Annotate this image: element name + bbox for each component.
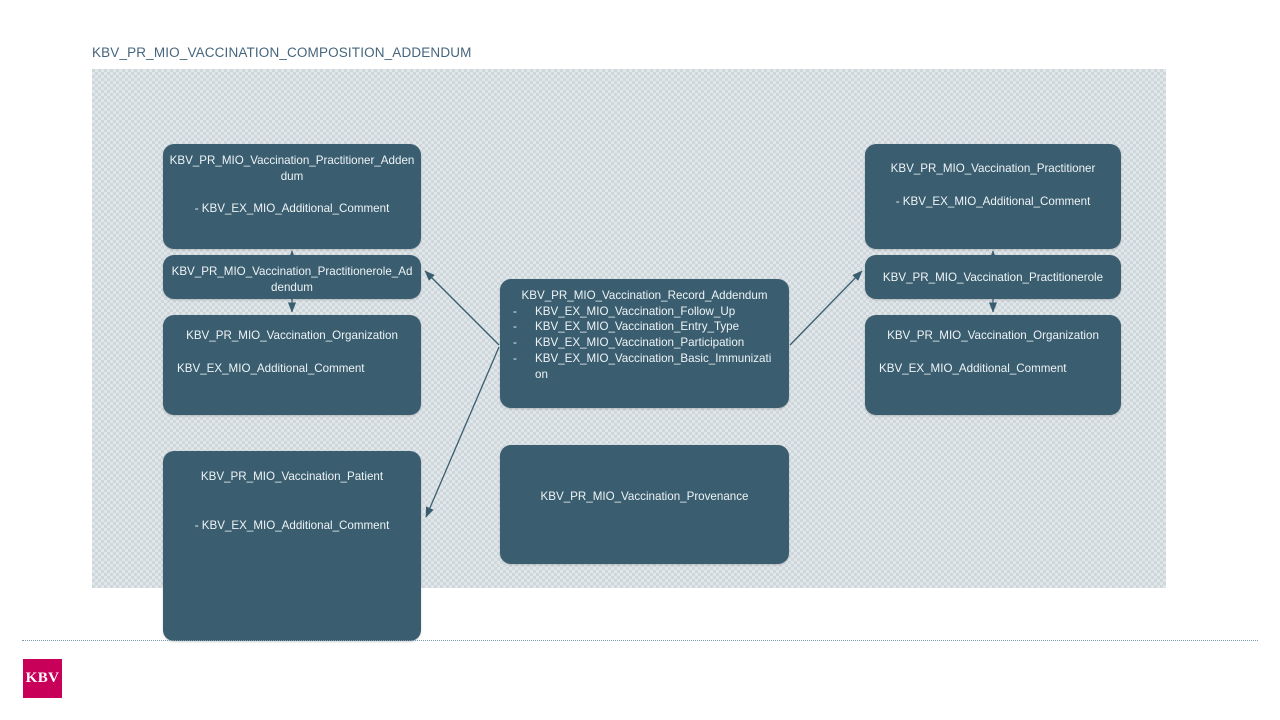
node-practitioner-addendum-title: KBV_PR_MIO_Vaccination_Practitioner_Adde…	[163, 153, 421, 184]
node-practitioner-right-item: - KBV_EX_MIO_Additional_Comment	[865, 194, 1121, 210]
node-organization-left-title: KBV_PR_MIO_Vaccination_Organization	[163, 328, 421, 344]
kbv-logo-text: KBV	[26, 670, 60, 687]
list-item-label: KBV_EX_MIO_Vaccination_Follow_Up	[535, 304, 749, 320]
node-practitionerole-right-title: KBV_PR_MIO_Vaccination_Practitionerole	[865, 270, 1121, 286]
connector-record-to-patient	[426, 347, 499, 517]
footer-divider	[22, 640, 1258, 641]
node-patient-item: - KBV_EX_MIO_Additional_Comment	[163, 518, 421, 534]
node-practitionerole-right[interactable]: KBV_PR_MIO_Vaccination_Practitionerole	[865, 255, 1121, 299]
list-bullet: -	[513, 335, 535, 351]
node-organization-left[interactable]: KBV_PR_MIO_Vaccination_Organization KBV_…	[163, 315, 421, 415]
list-bullet: -	[513, 319, 535, 335]
list-item-label: KBV_EX_MIO_Vaccination_Entry_Type	[535, 319, 753, 335]
list-item-label: KBV_EX_MIO_Vaccination_Participation	[535, 335, 758, 351]
node-provenance-title: KBV_PR_MIO_Vaccination_Provenance	[500, 489, 789, 505]
node-organization-right[interactable]: KBV_PR_MIO_Vaccination_Organization KBV_…	[865, 315, 1121, 415]
node-patient-title: KBV_PR_MIO_Vaccination_Patient	[163, 469, 421, 485]
node-practitioner-addendum[interactable]: KBV_PR_MIO_Vaccination_Practitioner_Adde…	[163, 144, 421, 249]
node-organization-right-title: KBV_PR_MIO_Vaccination_Organization	[865, 328, 1121, 344]
connector-record-to-practitionerole-right	[790, 271, 862, 345]
node-patient[interactable]: KBV_PR_MIO_Vaccination_Patient - KBV_EX_…	[163, 451, 421, 641]
record-addendum-extension-item: -KBV_EX_MIO_Vaccination_Basic_Immunizati…	[500, 351, 789, 383]
record-addendum-extension-item: -KBV_EX_MIO_Vaccination_Entry_Type	[500, 319, 789, 335]
record-addendum-extension-item: -KBV_EX_MIO_Vaccination_Participation	[500, 335, 789, 351]
connector-record-to-prole-addendum	[425, 271, 499, 345]
node-record-addendum-title: KBV_PR_MIO_Vaccination_Record_Addendum	[500, 288, 789, 304]
node-provenance[interactable]: KBV_PR_MIO_Vaccination_Provenance	[500, 445, 789, 564]
node-practitioner-right[interactable]: KBV_PR_MIO_Vaccination_Practitioner - KB…	[865, 144, 1121, 249]
record-addendum-extension-item: -KBV_EX_MIO_Vaccination_Follow_Up	[500, 304, 789, 320]
node-practitionerole-addendum[interactable]: KBV_PR_MIO_Vaccination_Practitionerole_A…	[163, 255, 421, 299]
page-title: KBV_PR_MIO_VACCINATION_COMPOSITION_ADDEN…	[92, 45, 472, 60]
list-bullet: -	[513, 351, 535, 383]
node-practitioner-right-title: KBV_PR_MIO_Vaccination_Practitioner	[865, 161, 1121, 177]
node-record-addendum[interactable]: KBV_PR_MIO_Vaccination_Record_Addendum -…	[500, 279, 789, 408]
node-organization-right-item: KBV_EX_MIO_Additional_Comment	[865, 361, 1121, 377]
diagram-canvas: KBV_PR_MIO_Vaccination_Practitioner_Adde…	[92, 69, 1166, 588]
node-practitioner-addendum-item: - KBV_EX_MIO_Additional_Comment	[163, 201, 421, 217]
list-bullet: -	[513, 304, 535, 320]
kbv-logo: KBV	[23, 659, 62, 698]
node-practitionerole-addendum-title: KBV_PR_MIO_Vaccination_Practitionerole_A…	[163, 264, 421, 295]
record-addendum-extension-list: -KBV_EX_MIO_Vaccination_Follow_Up-KBV_EX…	[500, 304, 789, 384]
node-organization-left-item: KBV_EX_MIO_Additional_Comment	[163, 361, 421, 377]
list-item-label: KBV_EX_MIO_Vaccination_Basic_Immunizatio…	[535, 351, 789, 383]
